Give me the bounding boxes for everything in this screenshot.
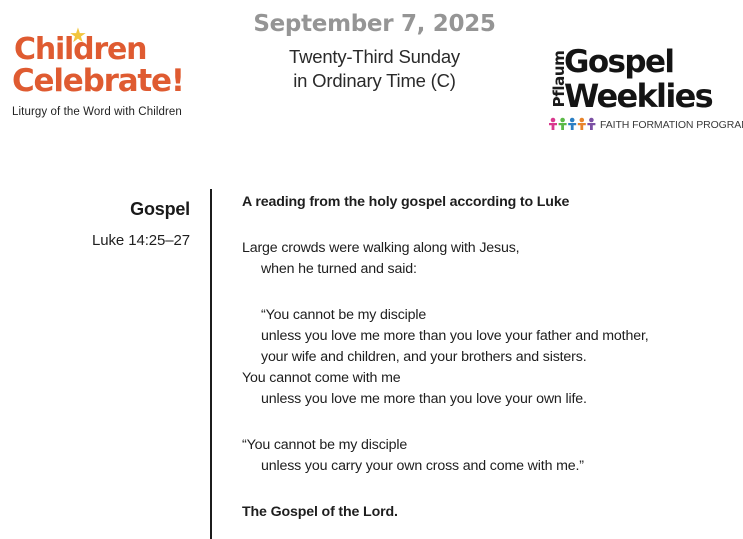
spacer	[242, 280, 722, 305]
reading-closing: The Gospel of the Lord.	[242, 502, 722, 523]
reading-p2-l4: You cannot come with me	[242, 368, 722, 389]
logo-tagline: Liturgy of the Word with Children	[12, 106, 197, 118]
spacer	[242, 213, 722, 238]
five-people-icon	[548, 117, 596, 131]
vertical-divider	[210, 189, 212, 539]
spacer	[242, 477, 722, 502]
gospel-heading-block: Gospel Luke 14:25–27	[20, 199, 190, 249]
liturgical-day-line1: Twenty-Third Sunday	[232, 45, 517, 69]
reading-p2-l5: unless you love me more than you love yo…	[242, 389, 722, 410]
gospel-weeklies-wordmark: Gospel Weeklies	[564, 48, 712, 111]
reading-p2-l3: your wife and children, and your brother…	[242, 347, 722, 368]
reading-p1-l1: Large crowds were walking along with Jes…	[242, 238, 722, 259]
star-icon: ★	[69, 27, 85, 43]
reading-p2-l1: “You cannot be my disciple	[242, 305, 722, 326]
reading-p3-l1: “You cannot be my disciple	[242, 435, 722, 456]
reading-p2-l2: unless you love me more than you love yo…	[242, 326, 722, 347]
wordmark-gospel: Gospel	[564, 48, 712, 78]
page-header: Children ★ Celebrate! Liturgy of the Wor…	[0, 0, 743, 150]
wordmark-weeklies: Weeklies	[564, 81, 712, 112]
gospel-title: Gospel	[20, 199, 190, 221]
date-block: September 7, 2025 Twenty-Third Sunday in…	[232, 10, 517, 94]
reading-p3-l2: unless you carry your own cross and come…	[242, 456, 722, 477]
liturgical-day-line2: in Ordinary Time (C)	[232, 69, 517, 93]
pflaum-tagline-row: FAITH FORMATION PROGRAM	[548, 117, 743, 131]
logo-line-children: Children ★	[12, 36, 197, 65]
gospel-reading-text: A reading from the holy gospel according…	[242, 192, 722, 523]
children-celebrate-logo: Children ★ Celebrate! Liturgy of the Wor…	[12, 36, 197, 118]
spacer	[242, 410, 722, 435]
pflaum-program-tagline: FAITH FORMATION PROGRAM	[600, 119, 743, 131]
reading-intro: A reading from the holy gospel according…	[242, 192, 722, 213]
reading-p1-l2: when he turned and said:	[242, 259, 722, 280]
gospel-reference: Luke 14:25–27	[20, 232, 190, 249]
logo-text-celebrate: Celebrate!	[12, 67, 197, 96]
pflaum-gospel-weeklies-logo: Pflaum Gospel Weeklies	[536, 48, 736, 140]
issue-date: September 7, 2025	[232, 10, 517, 39]
people-figures-icon	[548, 117, 596, 131]
